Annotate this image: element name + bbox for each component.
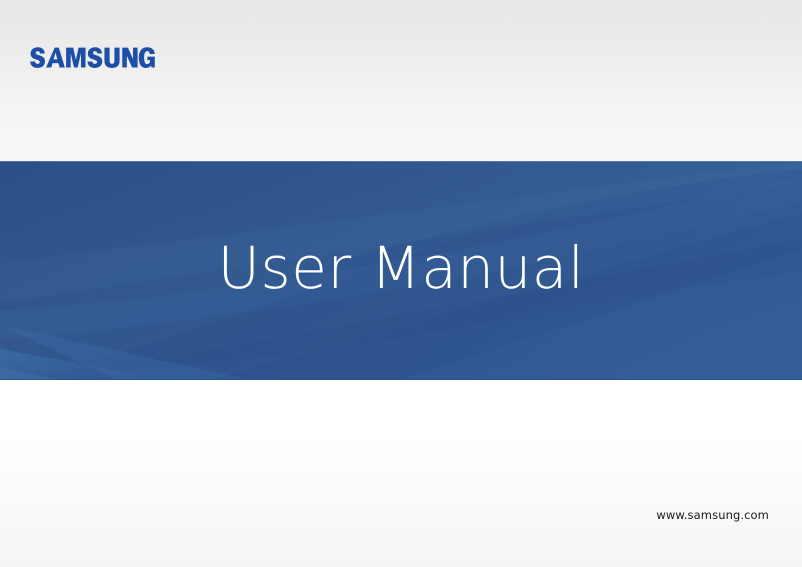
header-band <box>0 0 802 161</box>
cover-banner: User Manual <box>0 161 802 380</box>
footer-band <box>0 380 802 567</box>
page-title: User Manual <box>0 161 802 380</box>
website-url[interactable]: www.samsung.com <box>656 508 769 522</box>
document-cover-page: User Manual www.samsung.com <box>0 0 802 567</box>
samsung-wordmark-icon <box>29 44 189 70</box>
